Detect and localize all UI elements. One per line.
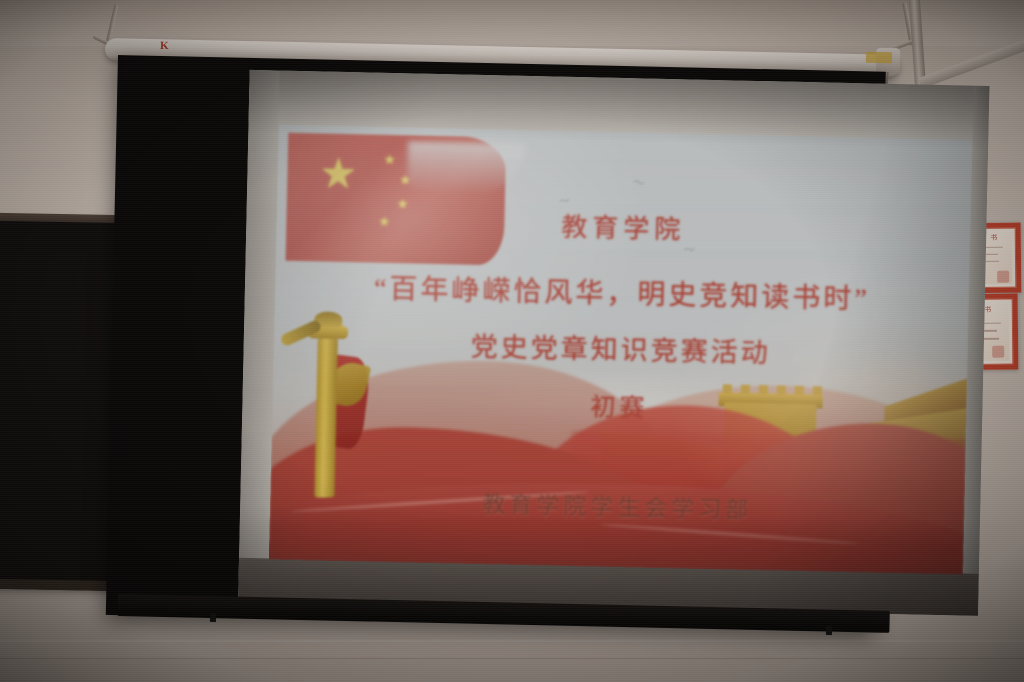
screen-bar-tab-right xyxy=(826,626,832,635)
wall-seam-upper xyxy=(0,640,1024,642)
screen-bar-tab-left xyxy=(210,613,216,622)
projected-slide: ★ ★ ★ ★ ★ 〜 〜 〜 xyxy=(269,125,972,575)
slide-text-block: 教育学院 “百年峥嵘恰风华，明史竞知读书时” 党史党章知识竞赛活动 初赛 教育学… xyxy=(269,125,972,575)
projection-screen-surface: ★ ★ ★ ★ ★ 〜 〜 〜 xyxy=(238,70,989,616)
wall-seam-lower xyxy=(0,658,1024,659)
slide-department-line: 教育学院学生会学习部 xyxy=(270,480,965,529)
slide-event-title: 党史党章知识竞赛活动 xyxy=(273,320,968,374)
slide-organization-line: 教育学院 xyxy=(276,201,971,253)
classroom-photo-scene: 荣 誉 证 书 荣 誉 证 书 K xyxy=(0,0,1024,682)
housing-spec-label xyxy=(866,52,892,64)
housing-brand-logo: K xyxy=(160,42,172,51)
slide-round-label: 初赛 xyxy=(272,380,967,431)
slide-quote-line: “百年峥嵘恰风华，明史竞知读书时” xyxy=(275,264,970,319)
projection-screen[interactable]: ★ ★ ★ ★ ★ 〜 〜 〜 xyxy=(106,55,886,632)
